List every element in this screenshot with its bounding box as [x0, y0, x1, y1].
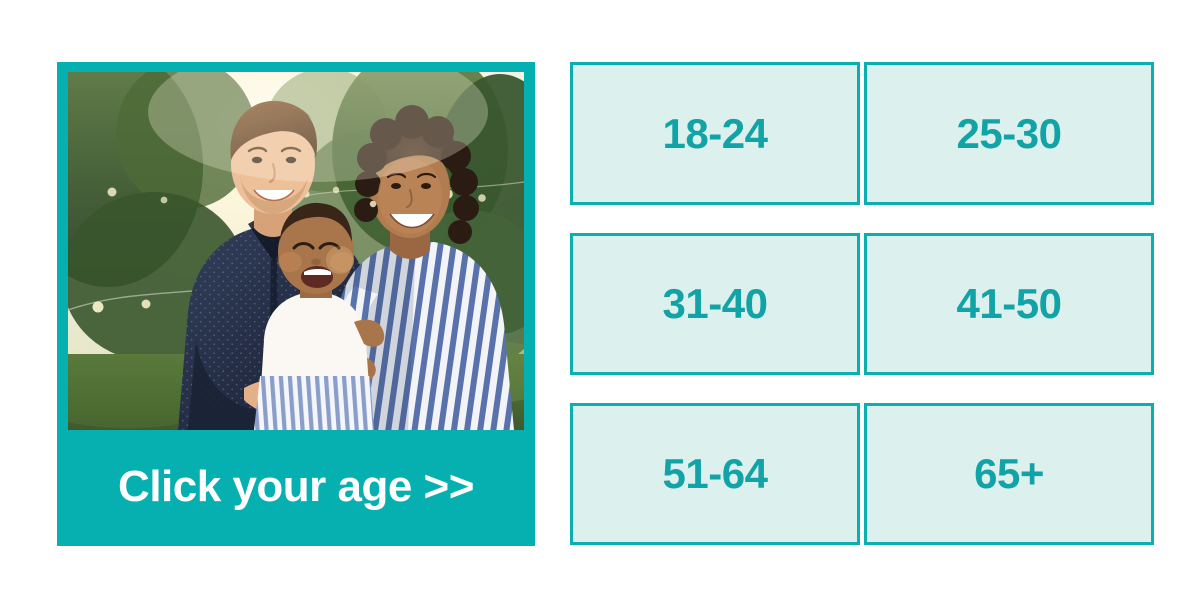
age-option-31-40[interactable]: 31-40	[570, 233, 860, 375]
age-option-65-plus[interactable]: 65+	[864, 403, 1154, 545]
age-option-label: 51-64	[663, 453, 768, 495]
age-option-label: 41-50	[957, 283, 1062, 325]
age-option-label: 31-40	[663, 283, 768, 325]
age-option-18-24[interactable]: 18-24	[570, 62, 860, 205]
age-options-grid: 18-24 25-30 31-40 41-50 51-64 65+	[570, 62, 1154, 546]
age-option-51-64[interactable]: 51-64	[570, 403, 860, 545]
age-option-label: 65+	[974, 453, 1044, 495]
ad-canvas: Click your age >> 18-24 25-30 31-40 41-5…	[0, 0, 1200, 600]
family-photo-illustration	[68, 72, 524, 430]
age-option-41-50[interactable]: 41-50	[864, 233, 1154, 375]
age-option-25-30[interactable]: 25-30	[864, 62, 1154, 205]
age-option-label: 18-24	[663, 113, 768, 155]
click-your-age-caption[interactable]: Click your age >>	[57, 428, 535, 546]
family-photo	[68, 72, 524, 430]
promo-card[interactable]: Click your age >>	[57, 62, 535, 546]
age-option-label: 25-30	[957, 113, 1062, 155]
